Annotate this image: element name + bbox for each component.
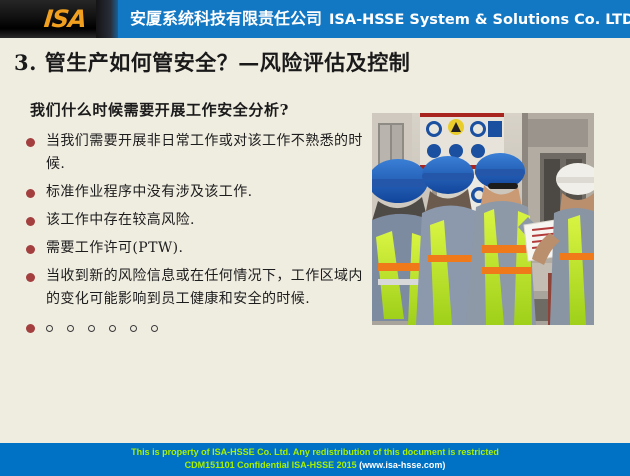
hollow-dot-icon xyxy=(109,325,116,332)
hollow-dot-icon xyxy=(151,325,158,332)
list-item-text: 该工作中存在较高风险. xyxy=(46,212,195,228)
list-item-text: 当收到新的风险信息或在任何情况下，工作区域内的变化可能影响到员工健康和安全的时候… xyxy=(46,268,363,307)
footer-website-link[interactable]: (www.isa-hsse.com) xyxy=(359,460,445,470)
hollow-dot-icon xyxy=(67,325,74,332)
photo-illustration xyxy=(372,113,594,325)
slide-subtitle: 我们什么时候需要开展工作安全分析? xyxy=(30,99,289,121)
slide-footer: This is property of ISA-HSSE Co. Ltd. An… xyxy=(0,443,630,476)
list-item: 标准作业程序中没有涉及该工作. xyxy=(20,181,365,204)
presentation-slide: ISA 安厦系统科技有限责任公司ISA-HSSE System & Soluti… xyxy=(0,0,630,476)
footer-copyright-line: This is property of ISA-HSSE Co. Ltd. An… xyxy=(0,446,630,459)
hollow-dot-icon xyxy=(88,325,95,332)
bullet-dot-icon xyxy=(26,217,35,226)
bullet-dot-icon xyxy=(26,273,35,282)
slide-header: ISA 安厦系统科技有限责任公司ISA-HSSE System & Soluti… xyxy=(0,0,630,38)
site-safety-photo xyxy=(372,113,594,325)
list-item: 当收到新的风险信息或在任何情况下，工作区域内的变化可能影响到员工健康和安全的时候… xyxy=(20,265,365,311)
isa-logo: ISA xyxy=(25,6,106,32)
slide-title: 3. 管生产如何管安全？—风险评估及控制 xyxy=(14,49,614,77)
hollow-dot-icon xyxy=(130,325,137,332)
list-item-text: 标准作业程序中没有涉及该工作. xyxy=(46,184,252,200)
list-item: 该工作中存在较高风险. xyxy=(20,209,365,232)
footer-doc-id: CDM151101 Confidential ISA-HSSE 2015 xyxy=(185,460,360,470)
list-item-text: 当我们需要开展非日常工作或对该工作不熟悉的时候. xyxy=(46,133,363,172)
header-company-title: 安厦系统科技有限责任公司ISA-HSSE System & Solutions … xyxy=(130,8,630,31)
list-item: 当我们需要开展非日常工作或对该工作不熟悉的时候. xyxy=(20,130,365,176)
bullet-dot-icon xyxy=(26,324,35,333)
bullet-dot-icon xyxy=(26,138,35,147)
bullet-dot-icon xyxy=(26,189,35,198)
list-item-text: 需要工作许可(PTW). xyxy=(46,240,183,256)
list-item: 需要工作许可(PTW). xyxy=(20,237,365,260)
footer-doc-line: CDM151101 Confidential ISA-HSSE 2015 (ww… xyxy=(0,459,630,472)
list-item-ellipsis xyxy=(20,316,365,340)
company-name-cn: 安厦系统科技有限责任公司 xyxy=(130,9,322,28)
hollow-dots-row xyxy=(46,316,172,340)
bullet-dot-icon xyxy=(26,245,35,254)
company-name-en: ISA-HSSE System & Solutions Co. LTD xyxy=(329,12,630,28)
bullet-list: 当我们需要开展非日常工作或对该工作不熟悉的时候. 标准作业程序中没有涉及该工作.… xyxy=(20,130,365,345)
hollow-dot-icon xyxy=(46,325,53,332)
